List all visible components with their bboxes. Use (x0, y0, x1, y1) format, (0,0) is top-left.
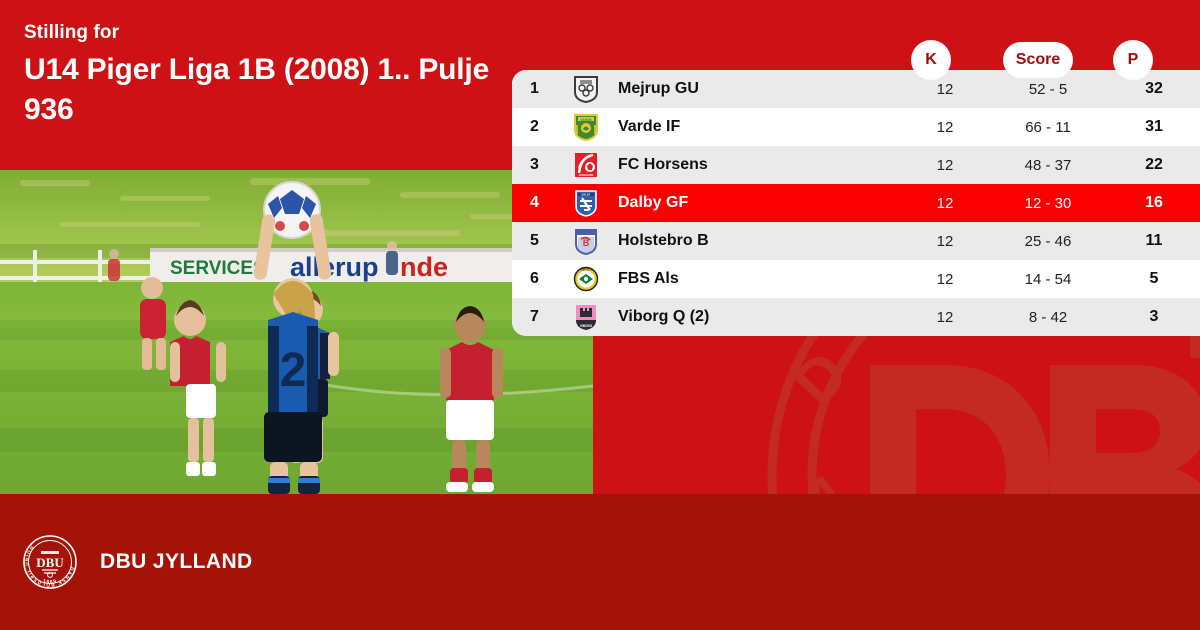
footer: DANSK BOLDSPIL UNION 1889 DBU DBU JYLLAN… (0, 494, 1200, 630)
svg-text:DALBY: DALBY (582, 193, 591, 197)
crest-varde-if-icon: VARDE (560, 113, 612, 141)
crest-fbs-als-icon: FBS ALS (560, 265, 612, 293)
row-points: 11 (1108, 232, 1200, 250)
column-header-matches-pill: K (911, 40, 951, 80)
row-score: 66 - 11 (988, 119, 1108, 136)
svg-text:HORSENS: HORSENS (579, 173, 594, 177)
svg-text:FBS ALS: FBS ALS (581, 267, 592, 271)
standings-table: 1 Mejrup GU 12 52 - 5 32 2 (512, 70, 1200, 336)
table-row-highlighted[interactable]: 4 DALBY Dalby GF 12 12 - 30 16 (512, 184, 1200, 222)
row-matches: 12 (902, 309, 988, 326)
column-header-score-pill: Score (1003, 42, 1073, 78)
row-team-name: Holstebro B (612, 232, 902, 250)
row-points: 22 (1108, 156, 1200, 174)
row-score: 12 - 30 (988, 195, 1108, 212)
table-row[interactable]: 1 Mejrup GU 12 52 - 5 32 (512, 70, 1200, 108)
column-header-score-label: Score (1016, 51, 1060, 69)
crest-viborg-q-icon: VIBORG (560, 303, 612, 331)
row-position: 6 (512, 270, 560, 288)
row-score: 48 - 37 (988, 157, 1108, 174)
row-matches: 12 (902, 271, 988, 288)
row-team-name: Dalby GF (612, 194, 902, 212)
table-row[interactable]: 5 B Holstebro B 12 25 - 46 11 (512, 222, 1200, 260)
row-matches: 12 (902, 233, 988, 250)
row-matches: 12 (902, 119, 988, 136)
row-points: 5 (1108, 270, 1200, 288)
row-team-name: Varde IF (612, 118, 902, 136)
row-position: 3 (512, 156, 560, 174)
graphic-canvas: D A Stilling for U14 Piger Liga 1B (2008… (0, 0, 1200, 630)
table-row[interactable]: 3 HORSENS FC Horsens 12 48 - 37 22 (512, 146, 1200, 184)
svg-text:allerup: allerup (290, 252, 379, 282)
row-score: 52 - 5 (988, 81, 1108, 98)
svg-text:2: 2 (280, 344, 307, 397)
row-points: 31 (1108, 118, 1200, 136)
dbu-logo-icon: DANSK BOLDSPIL UNION 1889 DBU (22, 534, 78, 590)
table-row[interactable]: 7 VIBORG Viborg Q (2) 12 8 - 42 3 (512, 298, 1200, 336)
row-position: 2 (512, 118, 560, 136)
row-team-name: Viborg Q (2) (612, 308, 902, 326)
svg-text:DBU: DBU (36, 555, 64, 570)
row-team-name: FC Horsens (612, 156, 902, 174)
footer-label: DBU JYLLAND (100, 550, 253, 574)
crest-mejrup-gu-icon (560, 75, 612, 103)
table-row[interactable]: 6 FBS ALS FBS Als 12 14 - 54 5 (512, 260, 1200, 298)
svg-text:D: D (780, 339, 861, 419)
svg-text:VIBORG: VIBORG (580, 324, 593, 328)
page-title: U14 Piger Liga 1B (2008) 1.. Pulje 936 (24, 50, 524, 130)
row-position: 4 (512, 194, 560, 212)
column-header-points-pill: P (1113, 40, 1153, 80)
crest-dalby-gf-icon: DALBY (560, 189, 612, 217)
row-points: 3 (1108, 308, 1200, 326)
crest-fc-horsens-icon: HORSENS (560, 151, 612, 179)
row-matches: 12 (902, 195, 988, 212)
column-header-points-label: P (1128, 51, 1139, 69)
svg-text:SERVICES: SERVICES (170, 258, 266, 279)
row-team-name: FBS Als (612, 270, 902, 288)
row-points: 32 (1108, 80, 1200, 98)
row-score: 8 - 42 (988, 309, 1108, 326)
svg-text:VARDE: VARDE (580, 118, 592, 122)
row-position: 5 (512, 232, 560, 250)
column-header-matches-label: K (925, 51, 937, 69)
svg-text:nde: nde (400, 252, 448, 282)
row-points: 16 (1108, 194, 1200, 212)
row-matches: 12 (902, 81, 988, 98)
crest-holstebro-b-icon: B (560, 227, 612, 255)
row-position: 1 (512, 80, 560, 98)
header-kicker: Stilling for (24, 22, 119, 44)
table-row[interactable]: 2 VARDE Varde IF 12 66 - 11 31 (512, 108, 1200, 146)
match-photo: SERVICES allerup nde (0, 170, 593, 494)
row-position: 7 (512, 308, 560, 326)
row-team-name: Mejrup GU (612, 80, 902, 98)
row-matches: 12 (902, 157, 988, 174)
row-score: 25 - 46 (988, 233, 1108, 250)
row-score: 14 - 54 (988, 271, 1108, 288)
